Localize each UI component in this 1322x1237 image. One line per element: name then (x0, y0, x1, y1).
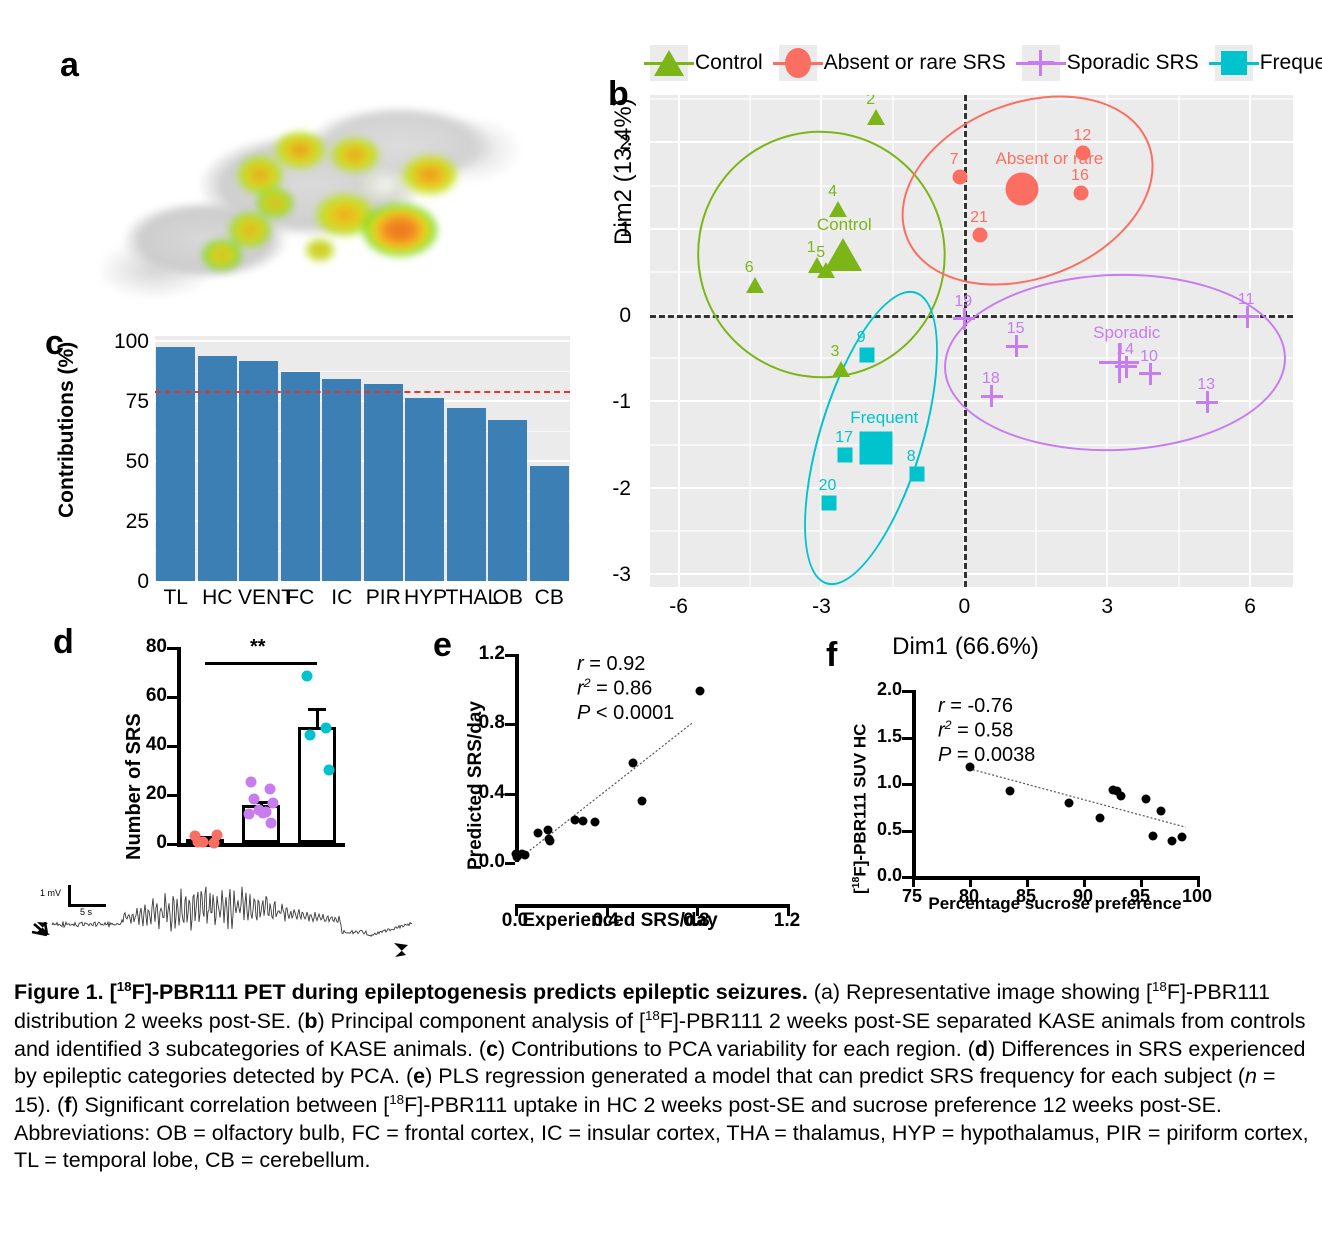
legend-item-sporadic[interactable]: Sporadic SRS (1022, 45, 1199, 81)
pca-data-point: 18 (992, 396, 1014, 418)
axis-tick-mark (505, 862, 515, 865)
significance-label: ** (250, 636, 266, 659)
axis-tick-label: 60 (119, 685, 167, 707)
axis-tick-label: 95 (1110, 886, 1170, 907)
axis-tick-label: HC (197, 586, 239, 610)
data-point (323, 764, 334, 775)
legend-label: Sporadic SRS (1067, 51, 1199, 75)
pca-group-label: Frequent (850, 408, 918, 428)
pca-point-label: 12 (1073, 127, 1091, 145)
pca-group-centroid: Sporadic (1119, 363, 1159, 403)
error-bar-cap (308, 708, 326, 711)
panel-f-letter: f (826, 638, 837, 672)
axis-tick-label: PIR (363, 586, 405, 610)
panel-d-letter: d (53, 625, 74, 659)
gridline-horizontal-minor (650, 98, 1293, 100)
pca-point-label: 1 (807, 239, 816, 257)
data-point (546, 837, 555, 846)
data-point (521, 851, 530, 860)
panel-a-pet-image: a (60, 30, 590, 315)
axis-tick-label: 100 (1167, 886, 1227, 907)
square-marker-icon (1215, 45, 1253, 81)
pca-canvas: 241563Control1216721Absent or rare111915… (650, 95, 1293, 587)
pca-group-centroid: Control (843, 255, 881, 288)
data-point (305, 730, 316, 741)
data-point (198, 837, 209, 848)
axis-tick-label: 85 (996, 886, 1056, 907)
axis-tick-label: 40 (119, 734, 167, 756)
legend-item-absent-or-rare[interactable]: Absent or rare SRS (779, 45, 1006, 81)
legend-label: Frequent SRS (1260, 51, 1322, 75)
axis-tick-label: 0.8 (666, 910, 726, 932)
axis-tick-mark (167, 745, 177, 748)
axis-tick-label: 0 (119, 832, 167, 854)
axis-tick-mark (167, 843, 177, 846)
srs-y-axis (177, 647, 181, 843)
bar (198, 356, 237, 581)
data-point (264, 784, 275, 795)
axis-tick-mark (505, 654, 515, 657)
data-point (695, 687, 704, 696)
data-point (966, 763, 975, 772)
axis-tick-label: IC (321, 586, 363, 610)
panel-e-pls-regression-plot: e Predicted SRS/day Experienced SRS/day … (425, 622, 815, 922)
circle-marker-icon (779, 45, 817, 81)
data-point (244, 808, 255, 819)
pca-point-label: 11 (1238, 291, 1255, 309)
pca-point-label: 15 (1007, 320, 1025, 338)
data-point (533, 829, 542, 838)
data-point (301, 671, 312, 682)
axis-tick-label: 1.5 (852, 726, 902, 747)
gridline-horizontal-minor (650, 530, 1293, 532)
panel-c-contributions-bar-chart: c Contributions (%) 0255075100 TLHCVENTF… (45, 318, 605, 618)
figure-caption: Figure 1. [18F]-PBR111 PET during epilep… (14, 978, 1310, 1175)
data-point (1148, 832, 1157, 841)
axis-tick-label: 50 (97, 450, 149, 474)
pca-legend: Control Absent or rare SRS Sporadic SRS … (650, 43, 1300, 83)
gridline-horizontal (650, 573, 1293, 575)
pca-point-label: 16 (1071, 167, 1089, 185)
bar (322, 379, 361, 581)
data-point (249, 793, 260, 804)
axis-tick-label: 90 (1053, 886, 1113, 907)
axis-tick-label: 0.4 (451, 782, 505, 804)
axis-tick-label: -3 (801, 595, 841, 619)
pca-data-point: 20 (829, 503, 844, 518)
caption-body: (a) Representative image showing [18F]-P… (14, 980, 1309, 1172)
pca-point-label: 9 (857, 329, 866, 347)
pca-point-label: 17 (835, 429, 853, 447)
data-point (266, 818, 277, 829)
axis-tick-label: 2 (591, 131, 631, 155)
axis-tick-label: OB (487, 586, 529, 610)
axis-tick-label: 1.2 (451, 643, 505, 665)
pca-group-label: Sporadic (1093, 323, 1160, 343)
eeg-amplitude-label: 1 mV (40, 888, 61, 898)
axis-tick-mark (902, 737, 912, 740)
axis-tick-label: 20 (119, 783, 167, 805)
axis-tick-label: 0.5 (852, 819, 902, 840)
pca-data-point: 11 (1248, 317, 1270, 339)
axis-tick-mark (902, 690, 912, 693)
legend-label: Control (695, 51, 763, 75)
axis-tick-label: 0 (97, 570, 149, 594)
data-point (543, 825, 552, 834)
bar (447, 408, 486, 581)
plus-marker-icon (1022, 45, 1060, 81)
pca-data-point: 16 (1081, 193, 1096, 208)
data-point (1006, 787, 1015, 796)
axis-tick-label: 0 (944, 595, 984, 619)
axis-tick-label: 100 (97, 330, 149, 354)
axis-tick-label: 1.0 (852, 772, 902, 793)
pca-point-label: 13 (1197, 376, 1215, 394)
axis-tick-label: -6 (659, 595, 699, 619)
axis-tick-mark (902, 783, 912, 786)
brain-pet-heatmap-icon (100, 55, 550, 310)
bar (405, 398, 444, 581)
pca-group-centroid: Absent or rare (1022, 189, 1055, 222)
axis-tick-label: 80 (119, 636, 167, 658)
pca-point-label: 2 (866, 95, 875, 109)
axis-tick-mark (167, 794, 177, 797)
axis-tick-label: 0.8 (451, 712, 505, 734)
pca-group-label: Absent or rare (996, 149, 1104, 169)
data-point (1167, 836, 1176, 845)
data-point (1096, 814, 1105, 823)
axis-tick-label: TL (155, 586, 197, 610)
pet-uptake-overlay (100, 55, 550, 310)
axis-tick-label: 0.0 (451, 851, 505, 873)
contributions-y-axis-label: Contributions (%) (55, 342, 79, 518)
panel-a-letter: a (60, 48, 79, 82)
sucrose-x-axis (912, 876, 1197, 880)
pca-point-label: 19 (954, 293, 972, 311)
eeg-waveform-icon (12, 862, 422, 972)
gridline-horizontal (155, 340, 570, 342)
pca-data-point: 8 (917, 474, 932, 489)
pca-data-point: 15 (1017, 346, 1039, 368)
pls-canvas: 0.00.40.81.20.00.40.81.2 (515, 654, 787, 862)
pca-data-point: 6 (755, 285, 773, 301)
caption-title: Figure 1. [18F]-PBR111 PET during epilep… (14, 980, 808, 1004)
gridline-horizontal-minor (650, 444, 1293, 446)
gridline-vertical (678, 95, 680, 587)
pca-point-label: 7 (950, 151, 959, 169)
pca-data-point: 3 (841, 369, 859, 385)
pca-data-point: 9 (867, 355, 882, 370)
threshold-line (155, 391, 570, 393)
axis-tick-mark (167, 696, 177, 699)
triangle-marker-icon (650, 45, 688, 81)
pca-point-label: 18 (982, 370, 1000, 388)
pca-point-label: 3 (831, 343, 840, 361)
axis-tick-label: 75 (97, 390, 149, 414)
pca-point-label: 6 (745, 259, 754, 277)
trendline (515, 654, 787, 862)
data-point (211, 830, 222, 841)
axis-tick-mark (505, 793, 515, 796)
data-point (245, 777, 256, 788)
axis-tick-label: 0.0 (485, 910, 545, 932)
data-point (1065, 798, 1074, 807)
data-point (628, 759, 637, 768)
bar (364, 384, 403, 581)
pca-point-label: 21 (970, 209, 988, 227)
legend-label: Absent or rare SRS (824, 51, 1006, 75)
axis-tick-label: 1.2 (757, 910, 817, 932)
legend-item-frequent[interactable]: Frequent SRS (1215, 45, 1322, 81)
pca-point-label: 20 (819, 477, 837, 495)
axis-tick-label: 1 (591, 218, 631, 242)
panel-d-srs-count-chart: d Number of SRS 020406080** (45, 625, 425, 885)
axis-tick-label: 80 (939, 886, 999, 907)
axis-tick-label: 75 (882, 886, 942, 907)
significance-bar (205, 662, 317, 665)
axis-tick-label: 0.0 (852, 865, 902, 886)
pca-data-point: 5 (826, 270, 844, 286)
pca-data-point: 17 (845, 455, 860, 470)
axis-tick-label: 6 (1230, 595, 1270, 619)
bar (488, 420, 527, 581)
panel-b-pca-plot: b Control Absent or rare SRS Sporadic SR… (600, 35, 1300, 635)
panel-e-letter: e (433, 628, 452, 662)
pca-plot-area: Dim2 (13.4%) Dim1 (66.6%) 210-1-2-3 -6-3… (638, 95, 1293, 590)
axis-tick-mark (167, 647, 177, 650)
trendline (912, 690, 1197, 876)
legend-item-control[interactable]: Control (650, 45, 763, 81)
axis-tick-label: THAL (446, 586, 488, 610)
panel-f-sucrose-correlation-plot: f [18F]-PBR111 SUV HC Percentage sucrose… (820, 622, 1270, 922)
axis-tick-label: 0.4 (576, 910, 636, 932)
axis-tick-label: VENT (238, 586, 280, 610)
pca-data-point: 13 (1207, 402, 1229, 424)
axis-tick-label: FC (280, 586, 322, 610)
axis-tick-mark (902, 830, 912, 833)
axis-tick-mark (505, 723, 515, 726)
data-point (591, 818, 600, 827)
pca-group-label: Control (817, 215, 872, 235)
bar (156, 347, 195, 581)
pca-data-point: 19 (964, 319, 986, 341)
data-point (1156, 806, 1165, 815)
data-point (579, 817, 588, 826)
data-point (1178, 832, 1187, 841)
data-point (320, 722, 331, 733)
data-point (1141, 794, 1150, 803)
srs-canvas: 020406080** (177, 647, 345, 843)
axis-tick-mark (902, 876, 912, 879)
pca-data-point: 21 (980, 235, 995, 250)
pca-data-point: 2 (876, 117, 894, 133)
pca-data-point: 7 (960, 177, 975, 192)
bar (530, 466, 569, 581)
axis-tick-label: HYP (404, 586, 446, 610)
contributions-canvas (155, 336, 570, 581)
data-point (637, 797, 646, 806)
pls-x-axis (515, 904, 787, 908)
axis-tick-label: 2.0 (852, 679, 902, 700)
bar (239, 361, 278, 581)
eeg-trace: 1 mV 5 s (12, 862, 422, 972)
axis-tick-label: 3 (1087, 595, 1127, 619)
data-point (1116, 792, 1125, 801)
axis-tick-label: CB (529, 586, 571, 610)
bar (298, 727, 336, 843)
bar (281, 372, 320, 581)
eeg-time-label: 5 s (80, 907, 92, 917)
data-point (257, 808, 268, 819)
sucrose-canvas: 0.00.51.01.52.07580859095100 (912, 690, 1197, 876)
pca-group-centroid: Frequent (876, 448, 909, 481)
axis-tick-label: 25 (97, 510, 149, 534)
gridline-horizontal (650, 487, 1293, 489)
pca-point-label: 4 (828, 183, 837, 201)
